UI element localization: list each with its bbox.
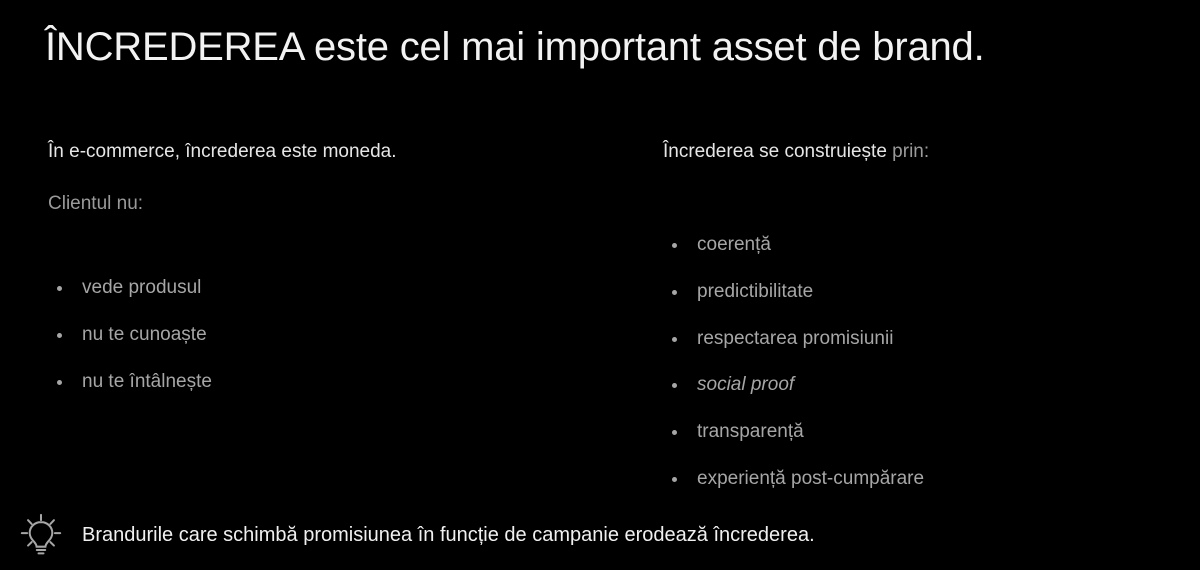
left-column-lead: În e-commerce, încrederea este moneda.	[48, 140, 608, 164]
page-title: ÎNCREDEREA este cel mai important asset …	[45, 24, 1175, 70]
list-item: experiență post-cumpărare	[663, 468, 924, 491]
left-bullet-list: vede produsul nu te cunoaște nu te întâl…	[48, 277, 212, 393]
list-item: predictibilitate	[663, 281, 924, 304]
right-column-heading-strong: Încrederea se construiește	[663, 141, 887, 162]
lightbulb-icon	[18, 512, 64, 558]
right-column-heading-muted: prin:	[887, 141, 929, 162]
slide-canvas: ÎNCREDEREA este cel mai important asset …	[0, 0, 1200, 570]
footer-note-text: Brandurile care schimbă promisiunea în f…	[82, 523, 815, 547]
right-bullet-list: coerență predictibilitate respectarea pr…	[663, 234, 924, 491]
list-item: nu te întâlnește	[48, 371, 212, 394]
left-column-subheading: Clientul nu:	[48, 192, 608, 216]
right-column: Încrederea se construiește prin:	[663, 140, 1183, 164]
list-item: respectarea promisiunii	[663, 328, 924, 351]
list-item: vede produsul	[48, 277, 212, 300]
footer-note: Brandurile care schimbă promisiunea în f…	[18, 512, 815, 558]
right-column-heading: Încrederea se construiește prin:	[663, 140, 1183, 164]
left-column: În e-commerce, încrederea este moneda. C…	[48, 140, 608, 216]
list-item: transparență	[663, 421, 924, 444]
list-item: nu te cunoaște	[48, 324, 212, 347]
list-item: social proof	[663, 374, 924, 397]
list-item: coerență	[663, 234, 924, 257]
